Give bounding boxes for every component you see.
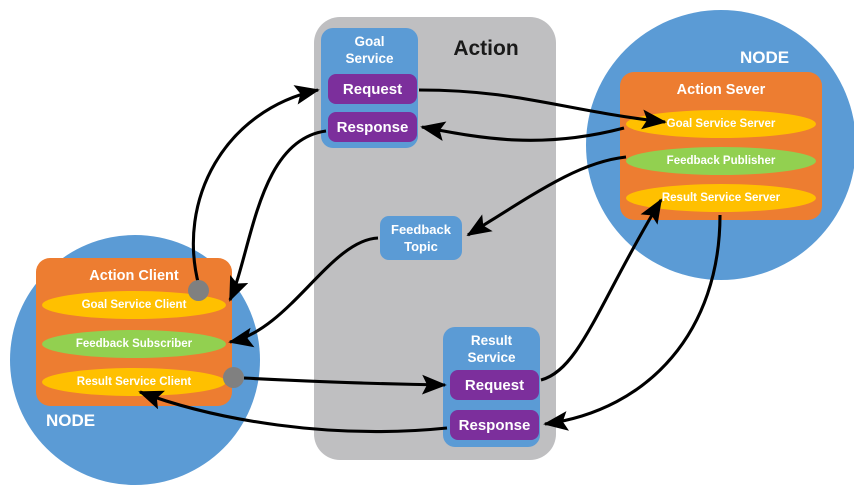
feedback-topic-line2: Topic xyxy=(404,239,438,254)
goal-service-response[interactable]: Response xyxy=(328,112,417,142)
action-server-title: Action Sever xyxy=(620,80,822,100)
diagram-canvas: Feedback Topic xyxy=(0,0,854,480)
result-service-response[interactable]: Response xyxy=(450,410,539,440)
goal-service-line2: Service xyxy=(345,51,393,66)
result-client-connector-dot xyxy=(223,367,244,388)
pill-feedback-subscriber[interactable]: Feedback Subscriber xyxy=(42,330,226,358)
result-service-line2: Service xyxy=(467,350,515,365)
pill-goal-service-server[interactable]: Goal Service Server xyxy=(626,110,816,138)
arrow-goal-client-to-request xyxy=(193,90,318,286)
feedback-topic-label: Feedback Topic xyxy=(391,221,451,255)
goal-client-connector-dot xyxy=(188,280,209,301)
server-node-label: NODE xyxy=(740,46,830,70)
result-service-label: Result Service xyxy=(443,332,540,370)
pill-result-service-server[interactable]: Result Service Server xyxy=(626,184,816,212)
pill-result-service-client[interactable]: Result Service Client xyxy=(42,368,226,396)
feedback-topic-box: Feedback Topic xyxy=(380,216,462,260)
result-service-line1: Result xyxy=(471,333,512,348)
goal-service-label: Goal Service xyxy=(321,33,418,71)
client-node-label: NODE xyxy=(46,410,136,432)
feedback-topic-line1: Feedback xyxy=(391,222,451,237)
goal-service-line1: Goal xyxy=(354,34,384,49)
result-service-request[interactable]: Request xyxy=(450,370,539,400)
pill-feedback-publisher[interactable]: Feedback Publisher xyxy=(626,147,816,175)
goal-service-request[interactable]: Request xyxy=(328,74,417,104)
arrow-goal-response-to-client xyxy=(230,131,326,300)
action-container-label: Action xyxy=(424,36,548,62)
